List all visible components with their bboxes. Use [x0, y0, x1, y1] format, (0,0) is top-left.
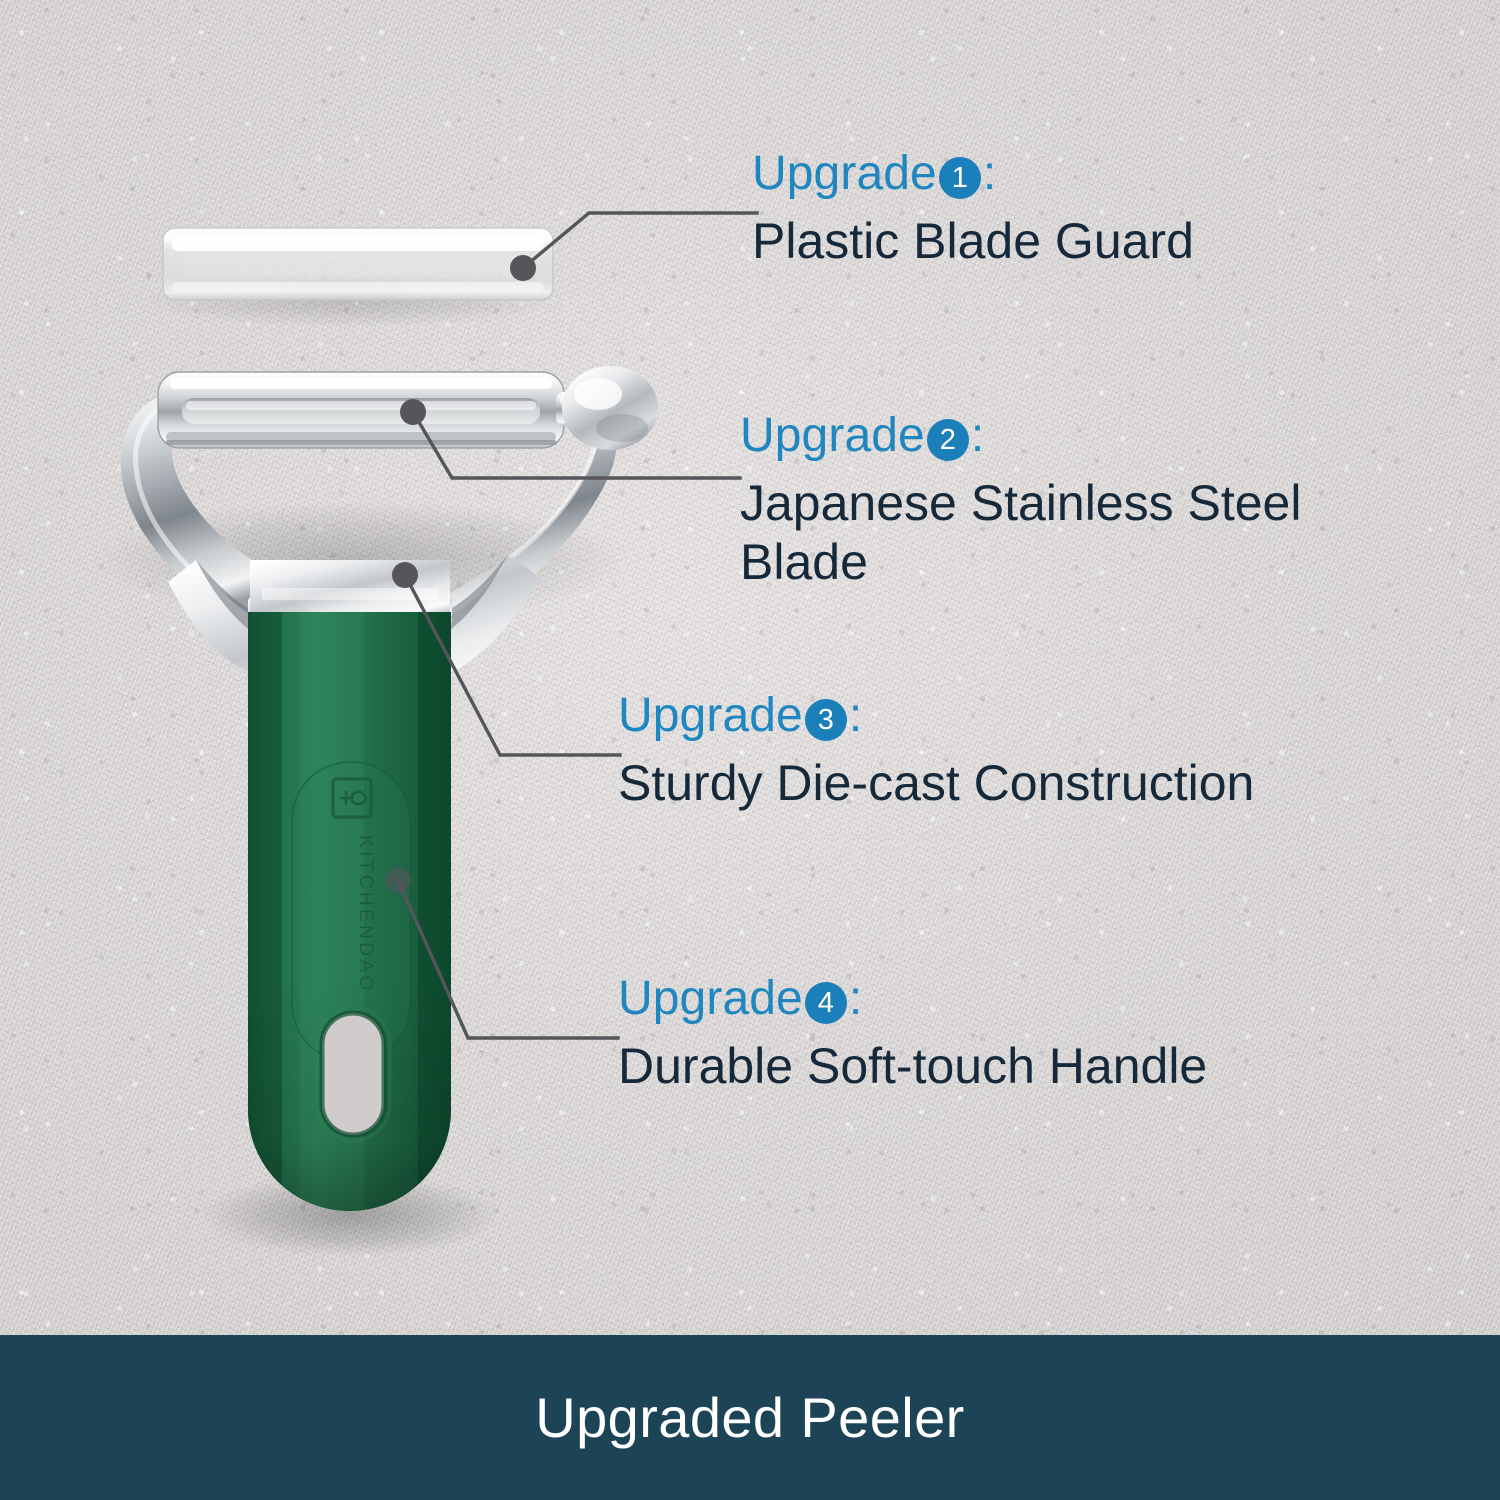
callout-1: Upgrade1: Plastic Blade Guard — [752, 150, 1194, 271]
callout-4-prefix: Upgrade — [618, 972, 803, 1025]
callout-3: Upgrade3: Sturdy Die-cast Construction — [618, 692, 1254, 813]
callout-1-badge: 1 — [939, 157, 981, 199]
soft-touch-handle: KITCHENDAO — [248, 612, 452, 1212]
callout-4: Upgrade4: Durable Soft-touch Handle — [618, 975, 1207, 1096]
callout-3-colon: : — [849, 689, 862, 742]
callout-3-description: Sturdy Die-cast Construction — [618, 754, 1254, 813]
callout-3-heading: Upgrade3: — [618, 692, 1254, 741]
callout-2-description: Japanese Stainless Steel Blade — [740, 474, 1420, 591]
brand-name-text: KITCHENDAO — [355, 835, 376, 994]
callout-2: Upgrade2: Japanese Stainless Steel Blade — [740, 412, 1430, 591]
callout-1-heading: Upgrade1: — [752, 150, 1194, 199]
callout-4-description: Durable Soft-touch Handle — [618, 1037, 1207, 1096]
callout-2-badge: 2 — [927, 419, 969, 461]
callout-1-prefix: Upgrade — [752, 147, 937, 200]
callout-4-badge: 4 — [805, 982, 847, 1024]
callout-2-heading: Upgrade2: — [740, 412, 1430, 461]
callout-3-badge: 3 — [805, 699, 847, 741]
hanging-hole — [316, 1007, 390, 1141]
callout-4-heading: Upgrade4: — [618, 975, 1207, 1024]
banner-title: Upgraded Peeler — [535, 1385, 964, 1450]
callout-1-colon: : — [983, 147, 996, 200]
plastic-blade-guard — [163, 228, 553, 300]
leader-dot-1 — [510, 255, 536, 281]
stainless-steel-blade — [158, 372, 564, 448]
callout-2-colon: : — [971, 409, 984, 462]
leader-line-1 — [523, 213, 757, 268]
callout-1-description: Plastic Blade Guard — [752, 212, 1194, 271]
callout-4-colon: : — [849, 972, 862, 1025]
callout-3-prefix: Upgrade — [618, 689, 803, 742]
bottom-banner: Upgraded Peeler — [0, 1335, 1500, 1500]
callout-2-prefix: Upgrade — [740, 409, 925, 462]
leader-dot-4 — [385, 867, 411, 893]
infographic-canvas: KITCHENDAO Upgrade1: Plastic Blade Guard — [0, 0, 1500, 1500]
eye-remover-knob — [562, 366, 658, 450]
leader-dot-3 — [392, 562, 418, 588]
leader-dot-2 — [400, 399, 426, 425]
